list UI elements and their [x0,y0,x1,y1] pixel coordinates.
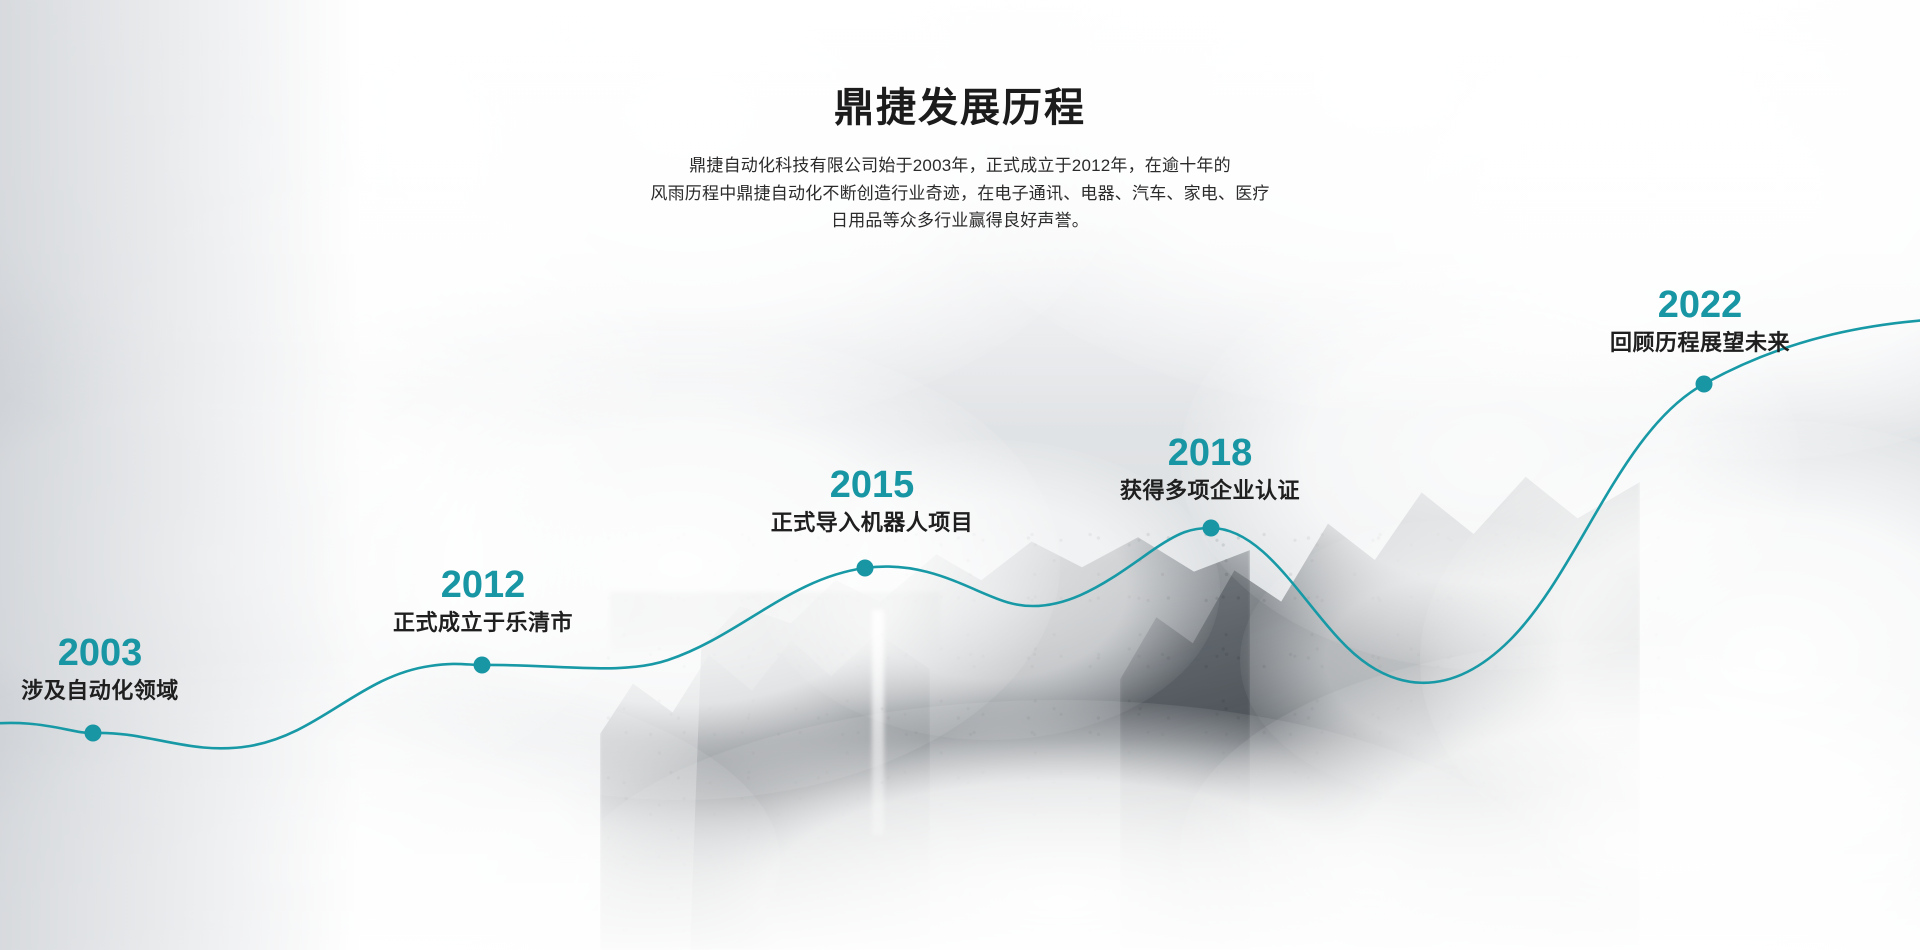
timeline-node-2012[interactable] [474,657,491,674]
milestone-2015[interactable]: 2015正式导入机器人项目 [771,466,974,536]
header: 鼎捷发展历程 鼎捷自动化科技有限公司始于2003年，正式成立于2012年，在逾十… [0,86,1920,235]
milestone-event-label: 获得多项企业认证 [1120,478,1300,504]
milestone-event-label: 回顾历程展望未来 [1610,330,1790,356]
milestone-2003[interactable]: 2003涉及自动化领域 [21,634,179,704]
milestone-year-label: 2015 [771,466,974,506]
timeline-node-2022[interactable] [1696,376,1713,393]
milestone-year-label: 2018 [1120,434,1300,474]
timeline-node-2018[interactable] [1203,520,1220,537]
milestone-event-label: 正式成立于乐清市 [393,610,573,636]
milestone-year-label: 2022 [1610,286,1790,326]
timeline-node-2003[interactable] [85,725,102,742]
page-title: 鼎捷发展历程 [0,86,1920,130]
milestone-2018[interactable]: 2018获得多项企业认证 [1120,434,1300,504]
description-block: 鼎捷自动化科技有限公司始于2003年，正式成立于2012年，在逾十年的 风雨历程… [0,152,1920,235]
timeline-node-group [85,376,1713,742]
milestone-year-label: 2003 [21,634,179,674]
description-line-1: 鼎捷自动化科技有限公司始于2003年，正式成立于2012年，在逾十年的 [0,152,1920,180]
milestone-2022[interactable]: 2022回顾历程展望未来 [1610,286,1790,356]
milestone-2012[interactable]: 2012正式成立于乐清市 [393,566,573,636]
description-line-3: 日用品等众多行业赢得良好声誉。 [0,207,1920,235]
timeline-infographic: 鼎捷发展历程 鼎捷自动化科技有限公司始于2003年，正式成立于2012年，在逾十… [0,0,1920,950]
milestone-event-label: 正式导入机器人项目 [771,510,974,536]
timeline-node-2015[interactable] [857,560,874,577]
milestone-event-label: 涉及自动化领域 [21,678,179,704]
milestone-year-label: 2012 [393,566,573,606]
description-line-2: 风雨历程中鼎捷自动化不断创造行业奇迹，在电子通讯、电器、汽车、家电、医疗 [0,180,1920,208]
